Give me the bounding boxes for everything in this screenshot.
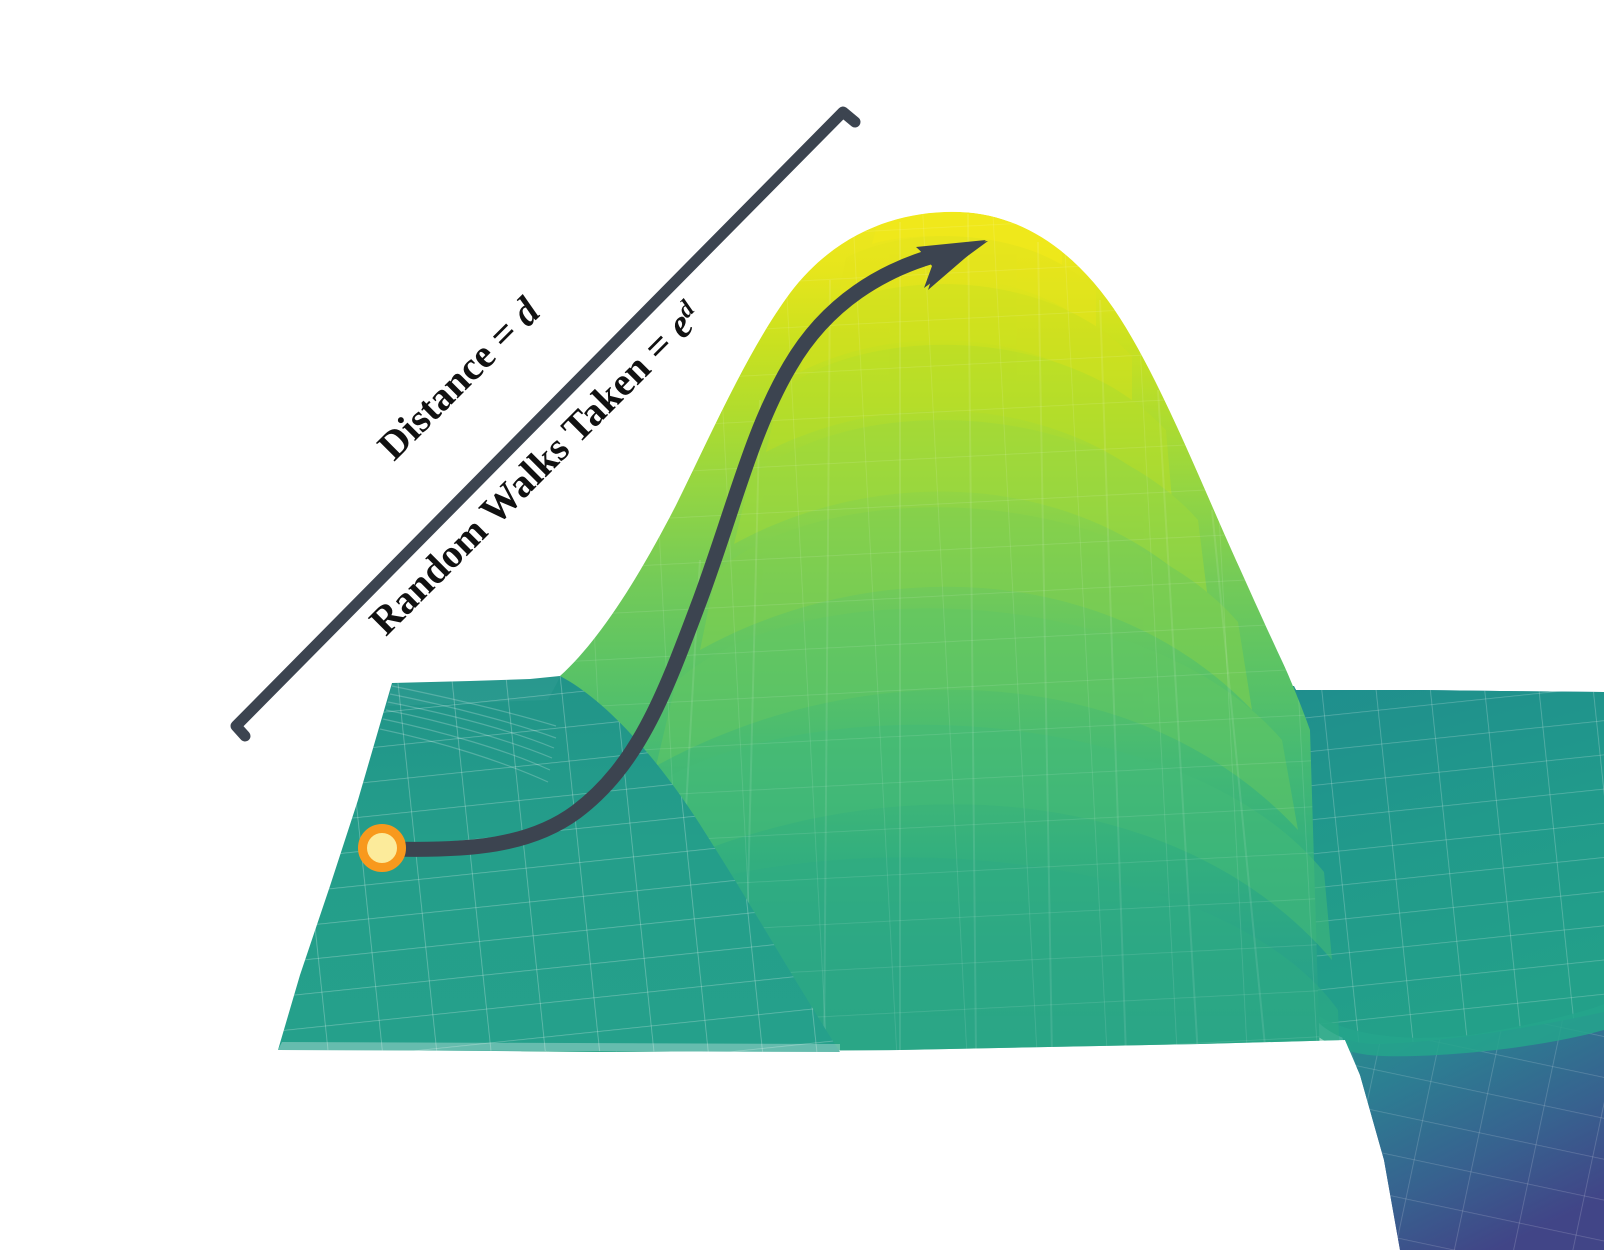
start-position-marker: [363, 829, 402, 868]
random-walks-label-text: Random Walks Taken = ed: [360, 293, 711, 644]
figure-canvas: Distance = d Random Walks Taken = ed: [0, 0, 1604, 1250]
annotation-layer: Distance = d Random Walks Taken = ed: [0, 0, 1604, 1250]
random-walks-label-prefix: Random Walks Taken =: [360, 315, 689, 644]
random-walks-label: Random Walks Taken = ed: [360, 293, 711, 644]
